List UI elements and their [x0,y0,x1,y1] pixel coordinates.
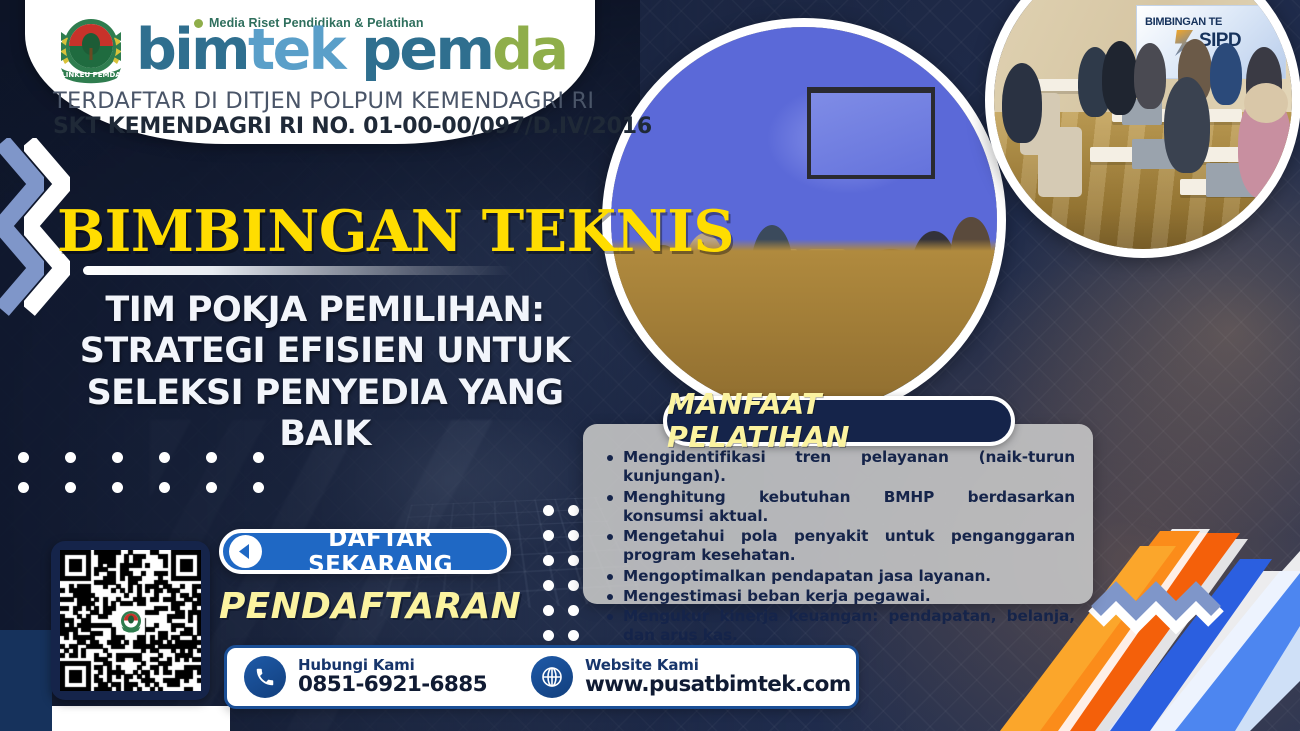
dot [543,580,554,591]
dot [253,482,264,493]
subtitle-line-3: SELEKSI PENYEDIA YANG BAIK [55,373,595,456]
subtitle-line-1: TIM POKJA PEMILIHAN: [55,290,595,331]
dot [568,605,579,616]
dot [568,580,579,591]
dot [543,555,554,566]
dot [543,505,554,516]
dot [543,630,554,641]
globe-icon [531,656,573,698]
dot [206,452,217,463]
dot [543,530,554,541]
subtitle-line-2: STRATEGI EFISIEN UNTUK [55,331,595,372]
contact-phone-value: 0851-6921-6885 [298,673,487,697]
benefit-item: Mengestimasi beban kerja pegawai. [605,587,1075,606]
contact-phone-text: Hubungi Kami 0851-6921-6885 [298,657,487,698]
contact-phone[interactable]: Hubungi Kami 0851-6921-6885 [244,656,487,698]
contact-website-value: www.pusatbimtek.com [585,673,851,697]
registration-heading: PENDAFTARAN [219,586,511,627]
register-now-label: DAFTAR SEKARANG [262,526,507,578]
benefit-item: Mengukur kinerja keuangan: pendapatan, b… [605,607,1075,646]
dot [18,452,29,463]
wordmark-part-1: bim [136,17,248,83]
contact-website-label: Website Kami [585,657,851,674]
dot [159,452,170,463]
wordmark-part-4: da [492,17,566,83]
event-banner-title: BIMBINGAN TE [1145,16,1222,28]
left-navy-strip [0,630,52,731]
dot [253,452,264,463]
dot [112,482,123,493]
benefit-item: Mengoptimalkan pendapatan jasa layanan. [605,567,1075,586]
chevron-left-circle-icon [229,535,262,568]
dot [206,482,217,493]
dot [159,482,170,493]
dot [568,630,579,641]
dot [65,482,76,493]
benefits-heading-text: MANFAAT PELATIHAN [667,388,1011,454]
linkeu-pemda-emblem-icon: LINKEU PEMDA [55,14,127,86]
title-divider [83,266,513,275]
contact-website-text: Website Kami www.pusatbimtek.com [585,657,851,698]
dot [568,505,579,516]
contact-website[interactable]: Website Kami www.pusatbimtek.com [531,656,851,698]
benefits-heading-badge: MANFAAT PELATIHAN [663,396,1015,446]
registration-line-1: TERDAFTAR DI DITJEN POLPUM KEMENDAGRI RI [53,88,569,114]
register-now-button[interactable]: DAFTAR SEKARANG [219,529,511,574]
benefits-list: Mengidentifikasi tren pelayanan (naik-tu… [605,448,1075,646]
page-title: BIMBINGAN TEKNIS [57,198,734,265]
wordmark-part-2: tek [248,17,344,83]
qr-code-frame[interactable] [51,541,210,700]
wordmark-part-3: pem [344,17,492,83]
brand-wordmark-text: bimtek pemda [136,24,566,76]
contact-phone-label: Hubungi Kami [298,657,487,674]
dot [18,482,29,493]
phone-icon [244,656,286,698]
benefit-item: Mengetahui pola penyakit untuk pengangga… [605,527,1075,566]
promotional-poster: BIMBINGAN TE SIPD [0,0,1300,731]
training-participants-photo: BIMBINGAN TE SIPD [985,0,1300,258]
dot [543,605,554,616]
benefit-item: Menghitung kebutuhan BMHP berdasarkan ko… [605,488,1075,527]
brand-wordmark: Media Riset Pendidikan & Pelatihan bimte… [136,14,566,76]
qr-center-emblem-icon [117,607,144,634]
dot [568,530,579,541]
dot [112,452,123,463]
contact-bar: Hubungi Kami 0851-6921-6885 Website Kami… [224,645,859,709]
registration-qr-code[interactable] [60,550,201,691]
brand-logo-card: LINKEU PEMDA Media Riset Pendidikan & Pe… [25,0,595,144]
dot-grid-left [18,452,300,512]
projector-screen [807,87,935,179]
dot [568,555,579,566]
svg-text:LINKEU PEMDA: LINKEU PEMDA [61,71,121,79]
page-subtitle: TIM POKJA PEMILIHAN: STRATEGI EFISIEN UN… [55,290,595,455]
dot [65,452,76,463]
registration-line-2: SKT KEMENDAGRI RI NO. 01-00-00/097/D.IV/… [53,114,569,139]
